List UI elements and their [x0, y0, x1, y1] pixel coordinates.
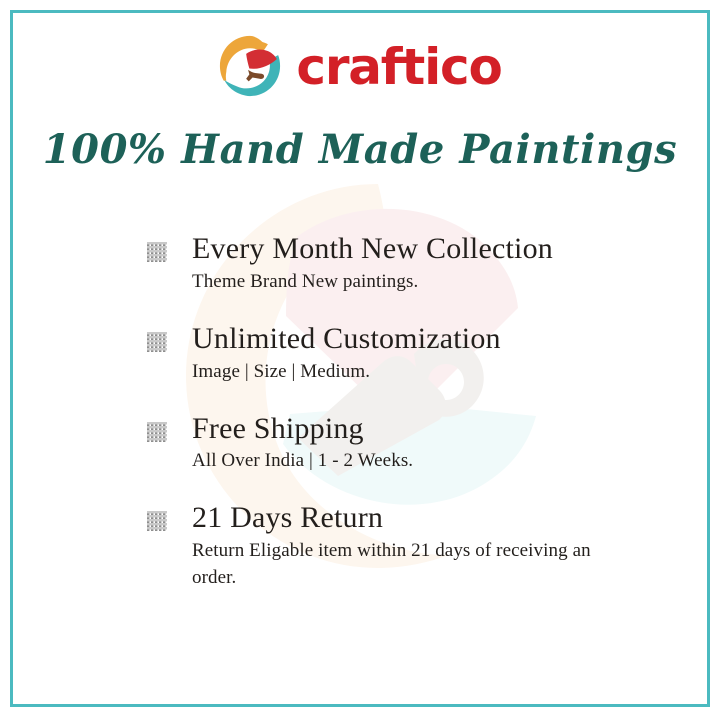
feature-subtitle: Image | Size | Medium. [192, 359, 592, 386]
brand-wordmark: craftico [296, 42, 501, 92]
list-item: Free Shipping All Over India | 1 - 2 Wee… [146, 412, 616, 476]
feature-subtitle: All Over India | 1 - 2 Weeks. [192, 448, 592, 475]
feature-list: Every Month New Collection Theme Brand N… [146, 232, 616, 592]
feature-subtitle: Return Eligable item within 21 days of r… [192, 538, 592, 592]
page-title: 100% Hand Made Paintings [0, 128, 720, 172]
promo-banner: craftico 100% Hand Made Paintings [0, 0, 720, 720]
brand-logo-lockup: craftico [0, 34, 720, 98]
list-item: Every Month New Collection Theme Brand N… [146, 232, 616, 296]
woven-grid-square-icon [146, 241, 168, 263]
feature-title: Every Month New Collection [192, 232, 616, 267]
woven-grid-square-icon [146, 331, 168, 353]
feature-title: Free Shipping [192, 412, 616, 447]
woven-grid-square-icon [146, 421, 168, 443]
craftico-crescent-paintbrush-logo-icon [218, 34, 282, 98]
banner-content: craftico 100% Hand Made Paintings [0, 0, 720, 720]
list-item: Unlimited Customization Image | Size | M… [146, 322, 616, 386]
woven-grid-square-icon [146, 510, 168, 532]
feature-title: Unlimited Customization [192, 322, 616, 357]
feature-title: 21 Days Return [192, 501, 616, 536]
feature-subtitle: Theme Brand New paintings. [192, 269, 592, 296]
list-item: 21 Days Return Return Eligable item with… [146, 501, 616, 592]
